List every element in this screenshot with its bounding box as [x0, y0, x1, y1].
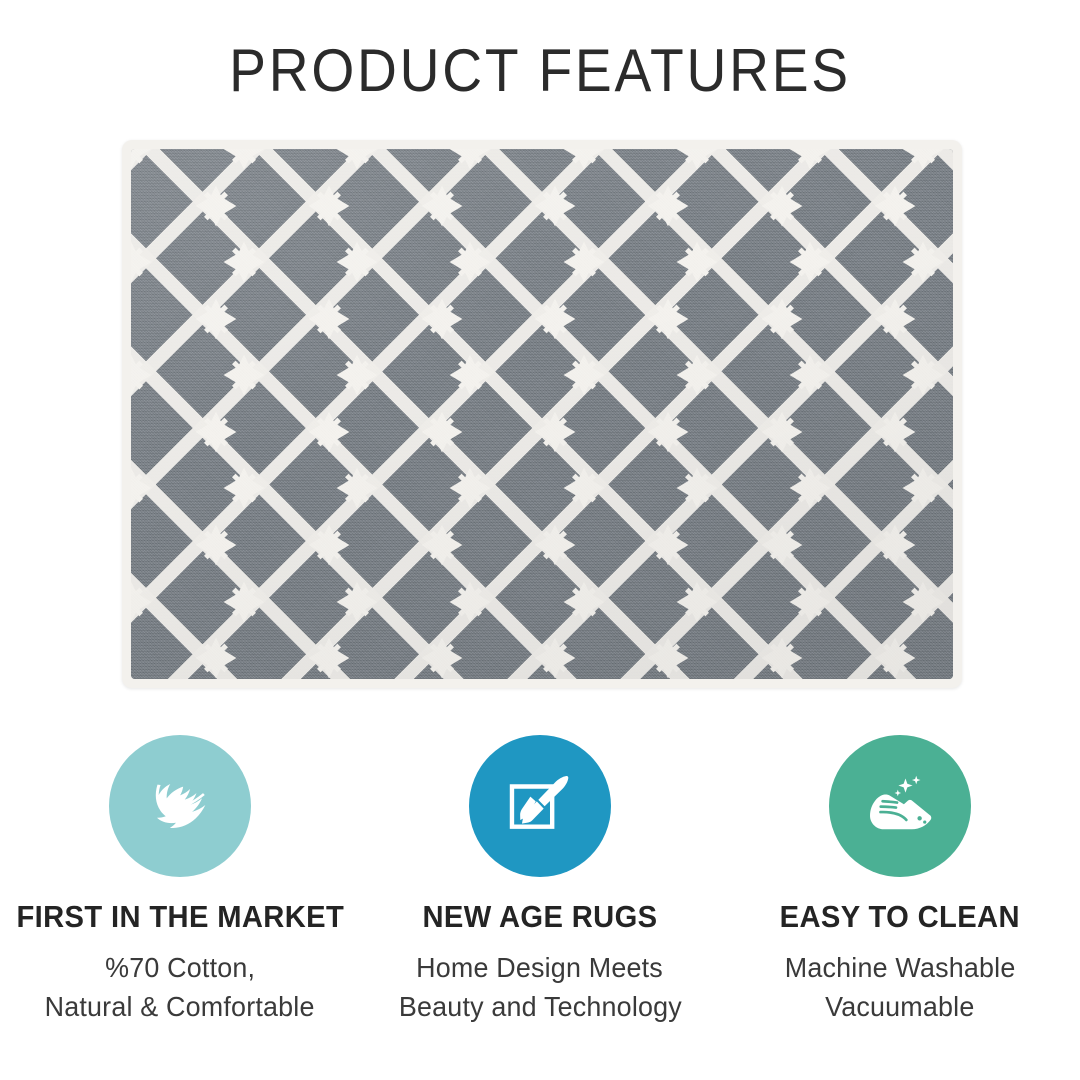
hand-wiping-cloth-icon [861, 767, 939, 845]
rug-cross-motif [865, 628, 925, 679]
features-row: FIRST IN THE MARKET %70 Cotton, Natural … [0, 735, 1080, 1065]
rug-cross-motif [131, 289, 133, 349]
rug-cross-motif [780, 458, 840, 518]
rug-cross-motifs [131, 149, 953, 679]
rug-cross-motif [554, 458, 614, 518]
rug-cross-motif [525, 289, 585, 349]
rug-cross-motif [440, 149, 500, 179]
rug-cross-motif [638, 289, 698, 349]
rug-cross-motif [440, 232, 500, 292]
rug-cross-motif [299, 515, 359, 575]
rug-cross-motif [780, 149, 840, 179]
feature-line-1: Machine Washable [785, 948, 1016, 988]
rug-cross-motif [667, 232, 727, 292]
rug-cross-motif [299, 289, 359, 349]
rug-cross-motif [525, 402, 585, 462]
product-features-infographic: PRODUCT FEATURES FIRST IN THE MARKET %70… [0, 0, 1080, 1080]
feature-first-in-the-market: FIRST IN THE MARKET %70 Cotton, Natural … [0, 735, 360, 1065]
rug-cross-motif [554, 572, 614, 632]
rug-cross-motif [667, 149, 727, 179]
rug-cross-motif [865, 289, 925, 349]
rug-cross-motif [780, 572, 840, 632]
feather-icon-circle [109, 735, 251, 877]
page-title: PRODUCT FEATURES [43, 36, 1037, 105]
rug-cross-motif [865, 176, 925, 236]
rug-cross-motif [131, 628, 133, 679]
rug-cross-motif [554, 345, 614, 405]
rug-cross-motif [412, 402, 472, 462]
rug-cross-motif [412, 628, 472, 679]
rug-cross-motif [131, 345, 161, 405]
rug-cross-motif [752, 402, 812, 462]
rug-cross-motif [638, 628, 698, 679]
rug-cross-motif [299, 402, 359, 462]
rug-cross-motif [131, 232, 161, 292]
rug-cross-motif [893, 345, 953, 405]
rug-cross-motif [214, 149, 274, 179]
feature-title: NEW AGE RUGS [423, 901, 658, 934]
rug-cross-motif [893, 458, 953, 518]
rug-cross-motif [752, 176, 812, 236]
rug-cross-motif [412, 289, 472, 349]
feature-line-2: Beauty and Technology [398, 987, 681, 1027]
rug-cross-motif [327, 149, 387, 179]
rug-cross-motif [327, 345, 387, 405]
rug-cross-motif [412, 515, 472, 575]
rug-cross-motif [667, 572, 727, 632]
rug-cross-motif [214, 345, 274, 405]
rug-cross-motif [893, 232, 953, 292]
rug-cross-motif [186, 176, 246, 236]
rug-surface [131, 149, 953, 679]
feature-line-2: Natural & Comfortable [45, 987, 315, 1027]
rug-cross-motif [780, 345, 840, 405]
rug-cross-motif [186, 628, 246, 679]
rug-cross-motif [186, 515, 246, 575]
rug-cross-motif [525, 628, 585, 679]
feather-icon [141, 767, 219, 845]
rug-photo [122, 140, 962, 688]
rug-cross-motif [299, 628, 359, 679]
rug-cross-motif [525, 515, 585, 575]
rug-cross-motif [893, 149, 953, 179]
rug-cross-motif [440, 458, 500, 518]
rug-cross-motif [327, 458, 387, 518]
rug-cross-motif [554, 232, 614, 292]
feature-line-1: %70 Cotton, [105, 948, 255, 988]
rug-cross-motif [440, 572, 500, 632]
design-pen-square-icon [501, 767, 579, 845]
rug-cross-motif [131, 176, 133, 236]
rug-cross-motif [327, 232, 387, 292]
rug-cross-motif [214, 232, 274, 292]
hand-wiping-cloth-icon-circle [829, 735, 971, 877]
rug-cross-motif [131, 402, 133, 462]
rug-cross-motif [186, 289, 246, 349]
rug-cross-motif [131, 515, 133, 575]
rug-cross-motif [299, 176, 359, 236]
rug-cross-motif [865, 402, 925, 462]
rug-cross-motif [667, 458, 727, 518]
rug-cross-motif [214, 458, 274, 518]
rug-cross-motif [554, 149, 614, 179]
design-pen-square-icon-circle [469, 735, 611, 877]
rug-cross-motif [186, 402, 246, 462]
rug-cross-motif [440, 345, 500, 405]
rug-cross-motif [214, 572, 274, 632]
rug-cross-motif [638, 515, 698, 575]
feature-line-2: Vacuumable [825, 987, 974, 1027]
feature-title: FIRST IN THE MARKET [16, 901, 344, 934]
rug-cross-motif [525, 176, 585, 236]
rug-cross-motif [667, 345, 727, 405]
rug-cross-motif [865, 515, 925, 575]
rug-cross-motif [638, 176, 698, 236]
rug-cross-motif [131, 458, 161, 518]
rug-cross-motif [131, 572, 161, 632]
feature-new-age-rugs: NEW AGE RUGS Home Design Meets Beauty an… [360, 735, 720, 1065]
rug-cross-motif [327, 572, 387, 632]
rug-cross-motif [131, 149, 161, 179]
rug-cross-motif [893, 572, 953, 632]
rug-cross-motif [752, 515, 812, 575]
feature-title: EASY TO CLEAN [780, 901, 1020, 934]
rug-cross-motif [412, 176, 472, 236]
rug-cross-motif [780, 232, 840, 292]
rug-cross-motif [752, 289, 812, 349]
feature-line-1: Home Design Meets [417, 948, 664, 988]
rug-cross-motif [638, 402, 698, 462]
feature-easy-to-clean: EASY TO CLEAN Machine Washable Vacuumabl… [720, 735, 1080, 1065]
rug-cross-motif [752, 628, 812, 679]
